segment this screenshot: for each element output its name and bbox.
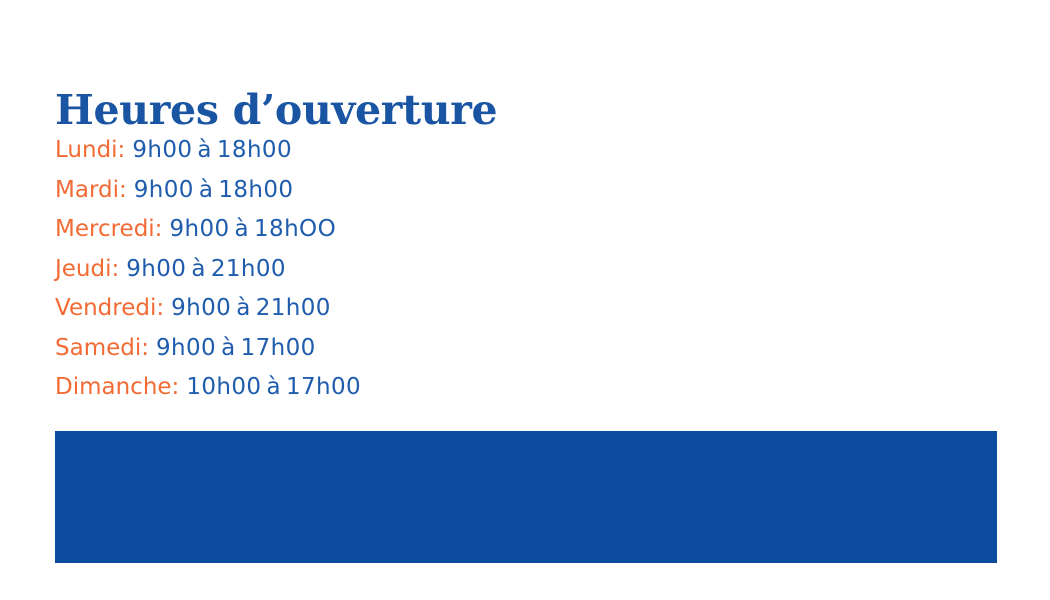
range-separator: à xyxy=(216,335,241,361)
time-range: 9h00à17h00 xyxy=(156,335,316,361)
opening-hours-list: Lundi:9h00à18h00 Mardi:9h00à18h00 Mercre… xyxy=(55,131,875,408)
range-separator: à xyxy=(194,177,219,203)
day-label: Mardi: xyxy=(55,177,127,203)
open-time: 10h00 xyxy=(186,374,261,400)
day-label: Samedi: xyxy=(55,335,149,361)
range-separator: à xyxy=(230,216,255,242)
close-time: 18h00 xyxy=(218,177,293,203)
page-title: Heures d’ouverture xyxy=(55,85,497,135)
range-separator: à xyxy=(231,295,256,321)
blue-banner-placeholder xyxy=(55,431,997,563)
open-time: 9h00 xyxy=(134,177,194,203)
list-item: Jeudi:9h00à21h00 xyxy=(55,250,875,290)
list-item: Mardi:9h00à18h00 xyxy=(55,171,875,211)
open-time: 9h00 xyxy=(169,216,229,242)
open-time: 9h00 xyxy=(156,335,216,361)
list-item: Dimanche:10h00à17h00 xyxy=(55,368,875,408)
slide-canvas: Heures d’ouverture Lundi:9h00à18h00 Mard… xyxy=(0,0,1050,600)
range-separator: à xyxy=(186,256,211,282)
time-range: 9h00à18hOO xyxy=(169,216,336,242)
close-time: 21h00 xyxy=(256,295,331,321)
close-time: 18hOO xyxy=(254,216,336,242)
day-label: Vendredi: xyxy=(55,295,164,321)
day-label: Mercredi: xyxy=(55,216,162,242)
time-range: 9h00à18h00 xyxy=(132,137,292,163)
list-item: Lundi:9h00à18h00 xyxy=(55,131,875,171)
close-time: 18h00 xyxy=(217,137,292,163)
open-time: 9h00 xyxy=(171,295,231,321)
day-label: Dimanche: xyxy=(55,374,179,400)
close-time: 21h00 xyxy=(211,256,286,282)
time-range: 9h00à21h00 xyxy=(171,295,331,321)
list-item: Mercredi:9h00à18hOO xyxy=(55,210,875,250)
day-label: Lundi: xyxy=(55,137,125,163)
open-time: 9h00 xyxy=(132,137,192,163)
list-item: Samedi:9h00à17h00 xyxy=(55,329,875,369)
list-item: Vendredi:9h00à21h00 xyxy=(55,289,875,329)
range-separator: à xyxy=(192,137,217,163)
time-range: 9h00à18h00 xyxy=(134,177,294,203)
time-range: 10h00à17h00 xyxy=(186,374,361,400)
day-label: Jeudi: xyxy=(55,256,119,282)
time-range: 9h00à21h00 xyxy=(126,256,286,282)
close-time: 17h00 xyxy=(286,374,361,400)
open-time: 9h00 xyxy=(126,256,186,282)
range-separator: à xyxy=(261,374,286,400)
close-time: 17h00 xyxy=(241,335,316,361)
